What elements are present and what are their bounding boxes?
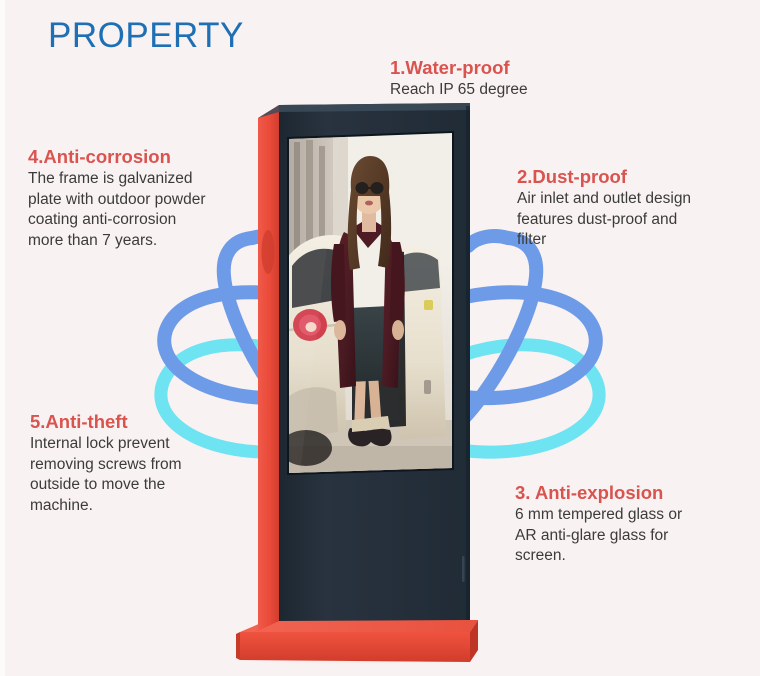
callout-body: 6 mm tempered glass or AR anti-glare gla… — [515, 505, 682, 567]
kiosk-base — [236, 620, 478, 662]
callout-line: coating anti-corrosion — [28, 210, 206, 231]
callout-line: outside to move the — [30, 475, 182, 496]
callout-line: Internal lock prevent — [30, 434, 182, 455]
digital-signage-kiosk — [0, 0, 760, 676]
callout-line: screen. — [515, 546, 682, 567]
callout-body: Reach IP 65 degree — [390, 80, 528, 101]
speaker-vent — [262, 230, 275, 274]
callout-body: Air inlet and outlet design features dus… — [517, 189, 691, 251]
callout-line: machine. — [30, 496, 182, 517]
callout-anti-explosion: 3. Anti-explosion 6 mm tempered glass or… — [515, 482, 682, 567]
callout-line: AR anti-glare glass for — [515, 526, 682, 547]
callout-heading: 3. Anti-explosion — [515, 482, 682, 503]
callout-line: The frame is galvanized — [28, 169, 206, 190]
callout-anti-theft: 5.Anti-theft Internal lock prevent remov… — [30, 411, 182, 517]
callout-line: features dust-proof and — [517, 210, 691, 231]
callout-water-proof: 1.Water-proof Reach IP 65 degree — [390, 57, 528, 101]
kiosk-screen — [280, 128, 457, 480]
status-indicator-strip — [462, 556, 465, 582]
callout-body: The frame is galvanized plate with outdo… — [28, 169, 206, 251]
callout-line: filter — [517, 230, 691, 251]
callout-line: Air inlet and outlet design — [517, 189, 691, 210]
infographic-canvas: PROPERTY — [0, 0, 760, 676]
callout-body: Internal lock prevent removing screws fr… — [30, 434, 182, 516]
callout-line: Reach IP 65 degree — [390, 80, 528, 101]
callout-heading: 5.Anti-theft — [30, 411, 182, 432]
callout-line: removing screws from — [30, 455, 182, 476]
callout-line: plate with outdoor powder — [28, 190, 206, 211]
callout-line: more than 7 years. — [28, 231, 206, 252]
callout-line: 6 mm tempered glass or — [515, 505, 682, 526]
callout-dust-proof: 2.Dust-proof Air inlet and outlet design… — [517, 166, 691, 251]
callout-heading: 2.Dust-proof — [517, 166, 691, 187]
callout-heading: 1.Water-proof — [390, 57, 528, 78]
callout-anti-corrosion: 4.Anti-corrosion The frame is galvanized… — [28, 146, 206, 252]
callout-heading: 4.Anti-corrosion — [28, 146, 206, 167]
